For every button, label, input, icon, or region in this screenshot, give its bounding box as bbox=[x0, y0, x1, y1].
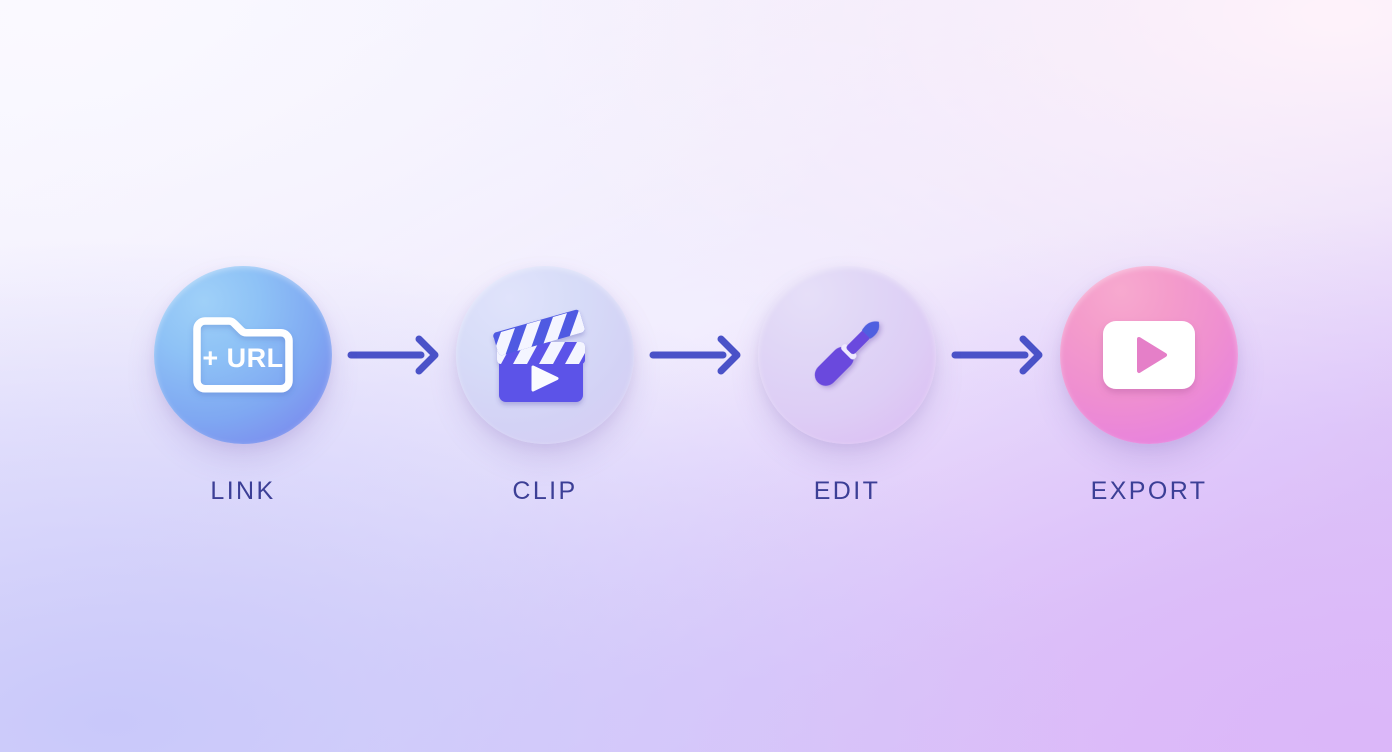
step-edit-label: EDIT bbox=[814, 477, 881, 506]
step-link-label: LINK bbox=[210, 477, 275, 506]
clapperboard-icon bbox=[490, 300, 600, 410]
arrow-right-icon bbox=[347, 335, 441, 375]
scalpel-icon bbox=[792, 300, 902, 410]
workflow-diagram: + URL LINK bbox=[0, 266, 1392, 506]
arrow-edit-export bbox=[947, 266, 1049, 444]
folder-url-label: + URL bbox=[202, 343, 283, 373]
step-edit[interactable]: EDIT bbox=[747, 266, 947, 506]
arrow-link-clip bbox=[343, 266, 445, 444]
arrow-right-icon bbox=[951, 335, 1045, 375]
step-clip[interactable]: CLIP bbox=[445, 266, 645, 506]
folder-plus-url-icon: + URL bbox=[188, 300, 298, 410]
step-export-label: EXPORT bbox=[1091, 477, 1208, 506]
arrow-right-icon bbox=[649, 335, 743, 375]
step-edit-bubble[interactable] bbox=[758, 266, 936, 444]
step-link-bubble[interactable]: + URL bbox=[154, 266, 332, 444]
step-export[interactable]: EXPORT bbox=[1049, 266, 1249, 506]
step-clip-label: CLIP bbox=[512, 477, 577, 506]
video-play-icon bbox=[1094, 300, 1204, 410]
step-link[interactable]: + URL LINK bbox=[143, 266, 343, 506]
step-clip-bubble[interactable] bbox=[456, 266, 634, 444]
step-export-bubble[interactable] bbox=[1060, 266, 1238, 444]
arrow-clip-edit bbox=[645, 266, 747, 444]
